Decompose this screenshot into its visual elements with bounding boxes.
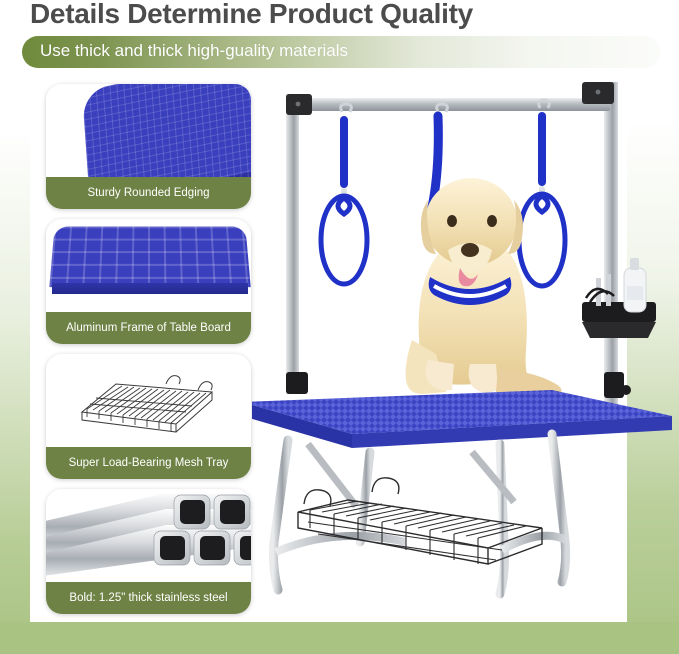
feature-card-sturdy-rounded-edging: Sturdy Rounded Edging [46, 84, 251, 209]
feature-card-list: Sturdy Rounded Edging Aluminum Frame of … [46, 84, 251, 624]
dog-eye-left [447, 215, 457, 227]
accessory-caddy-tray [582, 258, 656, 338]
page-title: Details Determine Product Quality [30, 0, 473, 30]
feature-label: Super Load-Bearing Mesh Tray [46, 447, 251, 479]
dog-eye-right [487, 215, 497, 227]
dog-nose [461, 243, 479, 257]
arm-post-left [286, 94, 299, 394]
pet-grooming-table-image [252, 72, 672, 617]
subtitle-text: Use thick and thick high-guality materia… [40, 41, 348, 61]
leg-cross-brace-right [502, 536, 566, 550]
dog-front-paw-right [469, 364, 498, 393]
decorative-left-edge [0, 130, 30, 654]
table-clamp-left [286, 372, 308, 394]
aluminum-frame-edge [52, 283, 248, 294]
feature-label: Sturdy Rounded Edging [46, 177, 251, 209]
grooming-table-drawing [252, 72, 672, 617]
wire-mesh-tray-image [46, 354, 251, 447]
folding-support-bar [308, 444, 356, 506]
blue-waffle-board-edge-image [46, 219, 251, 312]
infographic-page: Details Determine Product Quality Use th… [0, 0, 679, 654]
decorative-bottom-band [0, 622, 679, 654]
grooming-noose-left [321, 104, 367, 284]
table-clamp [604, 372, 624, 398]
steel-tubes-drawing [46, 489, 251, 582]
board-white-space [46, 294, 251, 312]
waffle-board-surface [49, 226, 250, 287]
feature-label: Aluminum Frame of Table Board [46, 312, 251, 344]
arm-post-right [604, 82, 618, 412]
feature-card-aluminum-frame: Aluminum Frame of Table Board [46, 219, 251, 344]
stainless-steel-tubes-image [46, 489, 251, 582]
feature-card-mesh-tray: Super Load-Bearing Mesh Tray [46, 354, 251, 479]
grooming-noose-right [519, 100, 565, 286]
feature-card-stainless-steel: Bold: 1.25" thick stainless steel [46, 489, 251, 614]
mat-corner-shape [82, 84, 251, 177]
blue-mat-rounded-corner-image [46, 84, 251, 177]
feature-label: Bold: 1.25" thick stainless steel [46, 582, 251, 614]
mesh-tray-drawing [46, 354, 251, 447]
